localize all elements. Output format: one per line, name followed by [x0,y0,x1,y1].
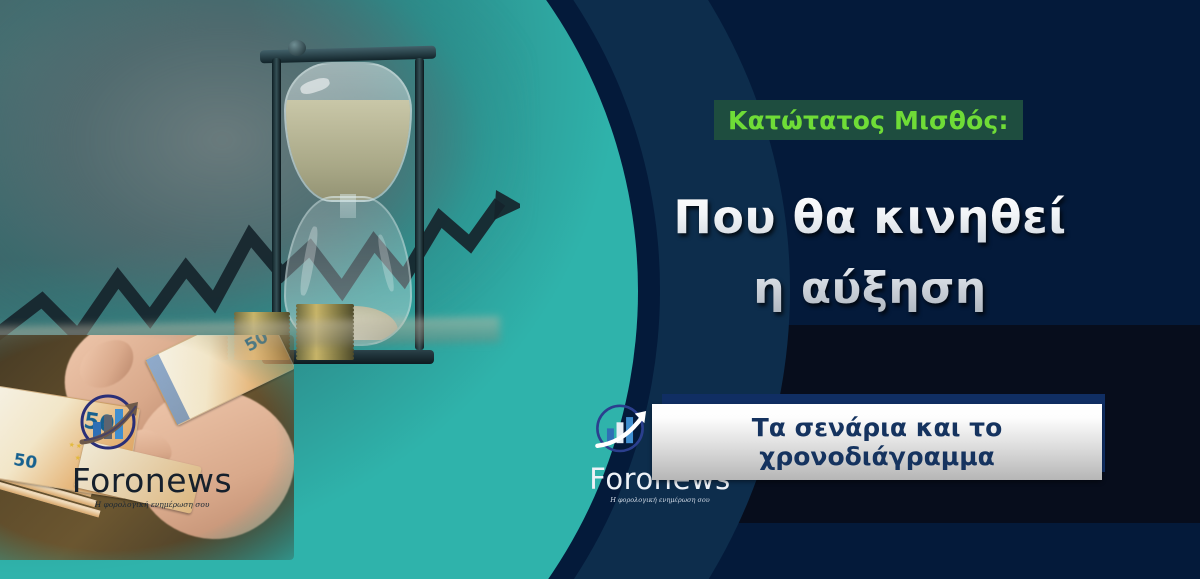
logo-wordmark: Foronews [62,464,242,497]
subtitle-line-1: Τα σενάρια και το [752,413,1003,442]
logo-tagline: Η φορολογική ενημέρωση σου [580,497,740,504]
logo-tagline: Η φορολογική ενημέρωση σου [62,501,242,509]
headline-line-1: Που θα κινηθεί [640,190,1100,244]
headline-line-2: η αύξηση [640,263,1100,314]
subtitle-line-2: χρονοδιάγραμμα [759,442,995,471]
logo-foronews-primary[interactable]: Foronews Η φορολογική ενημέρωση σου [62,392,242,509]
circle-bar-chart-arrow-icon [62,392,154,458]
circle-bar-chart-arrow-icon [580,402,660,460]
subtitle-banner: Τα σενάρια και το χρονοδιάγραμμα [652,404,1102,480]
kicker-badge: Κατώτατος Μισθός: [714,100,1023,140]
kicker-label: Κατώτατος Μισθός: [728,106,1009,135]
banknote-denomination: 50 [242,335,273,356]
promo-banner-canvas: 50 50 50 ★★★★ ★★★ Foronew [0,0,1200,579]
banknote-denomination: 50 [12,450,39,473]
